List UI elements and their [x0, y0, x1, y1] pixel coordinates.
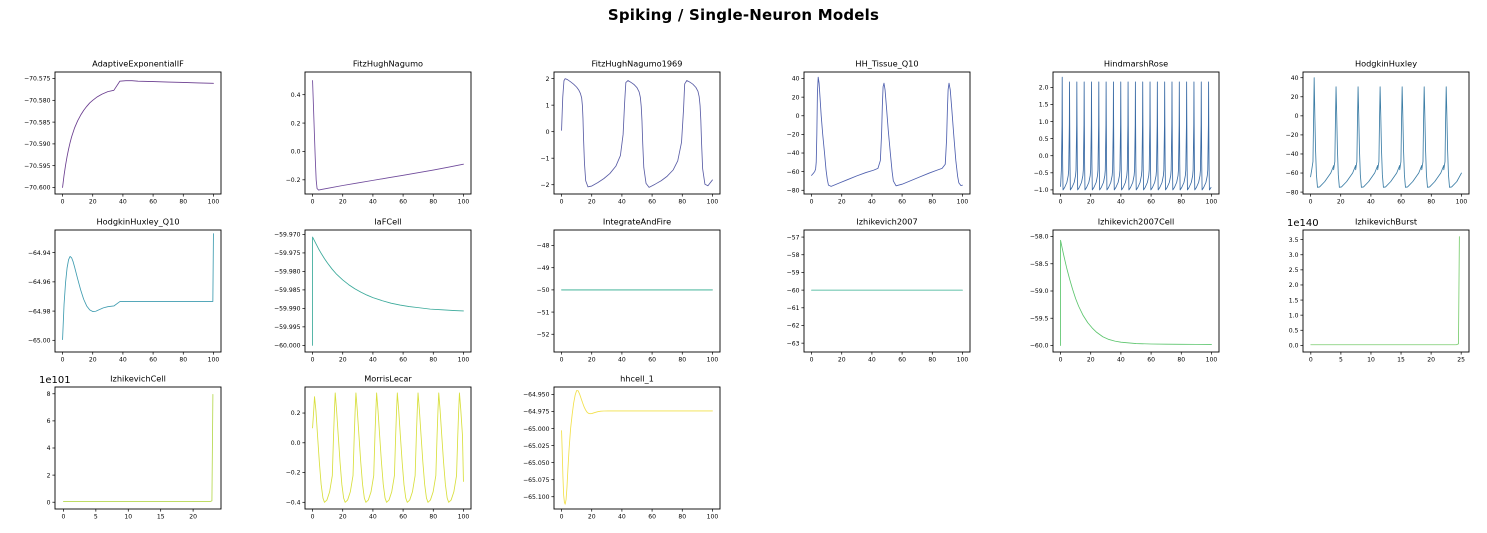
subplot-title: HodgkinHuxley_Q10 [96, 216, 179, 226]
subplot-title: Izhikevich2007Cell [1098, 216, 1175, 226]
y-tick-label: 3.0 [1288, 251, 1298, 258]
data-line [1310, 236, 1459, 344]
y-tick-label: −0.2 [285, 470, 300, 477]
subplot-izhikevichcell: IzhikevichCell1e1010510152086420 [0, 370, 250, 528]
y-tick-label: −70.585 [24, 119, 51, 126]
y-tick-label: −57 [786, 234, 799, 241]
x-tick-label: 20 [588, 514, 596, 521]
y-tick-label: −80 [786, 187, 799, 194]
y-tick-label: 2.5 [1288, 267, 1298, 274]
x-tick-label: 0 [61, 199, 65, 206]
y-tick-label: −64.98 [28, 308, 51, 315]
y-tick-label: −65.075 [523, 477, 550, 484]
x-tick-label: 80 [678, 356, 686, 363]
x-tick-label: 100 [1206, 356, 1218, 363]
x-tick-label: 80 [179, 356, 187, 363]
y-tick-label: −63 [786, 340, 799, 347]
x-tick-label: 20 [338, 356, 346, 363]
x-tick-label: 0 [310, 514, 314, 521]
x-tick-label: 0 [1308, 356, 1312, 363]
x-tick-label: 100 [707, 514, 719, 521]
y-tick-label: −59.970 [274, 231, 301, 238]
x-tick-label: 60 [399, 199, 407, 206]
x-tick-label: 60 [399, 514, 407, 521]
x-tick-label: 60 [648, 356, 656, 363]
subplot-hhcell-1: hhcell_1020406080100−64.950−64.975−65.00… [499, 370, 749, 528]
subplot-izhikevichburst: IzhikevichBurst1e14005101520253.53.02.52… [1248, 213, 1487, 371]
axes-frame [55, 387, 221, 509]
y-tick-label: 4 [47, 445, 51, 452]
y-tick-label: −62 [786, 322, 799, 329]
y-tick-label: −60 [786, 287, 799, 294]
figure-title: Spiking / Single-Neuron Models [0, 6, 1487, 24]
y-tick-label: −50 [537, 287, 550, 294]
data-line [1061, 77, 1211, 190]
y-tick-label: 8 [47, 391, 51, 398]
x-tick-label: 40 [1367, 199, 1375, 206]
data-line [562, 391, 713, 505]
y-tick-label: −59.5 [1030, 315, 1049, 322]
x-tick-label: 5 [94, 514, 98, 521]
x-tick-label: 80 [678, 514, 686, 521]
y-tick-label: 0.0 [290, 440, 300, 447]
axes-frame [1303, 72, 1469, 194]
x-tick-label: 60 [898, 199, 906, 206]
x-tick-label: 40 [868, 199, 876, 206]
x-tick-label: 80 [429, 199, 437, 206]
x-tick-label: 10 [124, 514, 132, 521]
y-tick-label: −40 [786, 150, 799, 157]
x-tick-label: 100 [208, 356, 220, 363]
y-tick-label: −58.0 [1030, 233, 1049, 240]
y-tick-label: 40 [1290, 75, 1298, 82]
y-tick-label: −59.975 [274, 250, 301, 257]
x-tick-label: 10 [1367, 356, 1375, 363]
y-tick-label: −60 [786, 169, 799, 176]
y-tick-label: 0 [1294, 113, 1298, 120]
x-tick-label: 20 [1427, 356, 1435, 363]
subplot-hodgkinhuxley: HodgkinHuxley02040608010040200−20−40−60−… [1248, 55, 1487, 213]
data-line [811, 77, 962, 186]
x-tick-label: 0 [61, 356, 65, 363]
y-tick-label: −58.5 [1030, 260, 1049, 267]
y-tick-label: −20 [786, 132, 799, 139]
y-tick-label: −51 [537, 309, 550, 316]
x-tick-label: 60 [898, 356, 906, 363]
y-tick-label: 20 [1290, 94, 1298, 101]
y-tick-label: −80 [1285, 189, 1298, 196]
axes-frame [804, 72, 970, 194]
y-tick-label: −65.025 [523, 443, 550, 450]
x-tick-label: 60 [1397, 199, 1405, 206]
subplot-title: IzhikevichCell [110, 374, 166, 384]
x-tick-label: 20 [1336, 199, 1344, 206]
y-tick-label: 2.0 [1288, 282, 1298, 289]
x-tick-label: 80 [429, 356, 437, 363]
axis-offset-label: 1e101 [39, 375, 71, 386]
x-tick-label: 80 [429, 514, 437, 521]
subplot-adaptiveexponentialif: AdaptiveExponentialIF020406080100−70.575… [0, 55, 250, 213]
x-tick-label: 40 [369, 356, 377, 363]
y-tick-label: −20 [1285, 132, 1298, 139]
y-tick-label: 1.5 [1039, 102, 1049, 109]
y-tick-label: 2 [47, 472, 51, 479]
data-line [1061, 240, 1212, 345]
x-tick-label: 20 [338, 514, 346, 521]
y-tick-label: −70.580 [24, 98, 51, 105]
data-line [63, 81, 214, 188]
y-tick-label: 1.0 [1039, 119, 1049, 126]
y-tick-label: −70.590 [24, 141, 51, 148]
axes-frame [554, 230, 720, 352]
axes-frame [1053, 230, 1219, 352]
subplot-title: FitzHughNagumo [352, 59, 422, 69]
y-tick-label: −59.985 [274, 287, 301, 294]
y-tick-label: −70.595 [24, 163, 51, 170]
y-tick-label: −64.950 [523, 392, 550, 399]
x-tick-label: 25 [1457, 356, 1465, 363]
y-tick-label: −64.94 [28, 249, 51, 256]
subplot-title: AdaptiveExponentialIF [92, 59, 184, 69]
axes-frame [305, 72, 471, 194]
x-tick-label: 40 [618, 356, 626, 363]
y-tick-label: 1.5 [1288, 297, 1298, 304]
x-tick-label: 60 [648, 514, 656, 521]
x-tick-label: 20 [338, 199, 346, 206]
y-tick-label: −59.980 [274, 268, 301, 275]
subplot-morrislecar: MorrisLecar0204060801000.20.0−0.2−0.4 [250, 370, 500, 528]
x-tick-label: 0 [560, 514, 564, 521]
x-tick-label: 40 [119, 356, 127, 363]
x-tick-label: 0 [1059, 199, 1063, 206]
y-tick-label: −48 [537, 242, 550, 249]
y-tick-label: −1 [541, 155, 550, 162]
y-tick-label: 0.5 [1039, 136, 1049, 143]
x-tick-label: 100 [707, 199, 719, 206]
y-tick-label: 20 [791, 94, 799, 101]
x-tick-label: 20 [1087, 199, 1095, 206]
x-tick-label: 20 [837, 356, 845, 363]
y-tick-label: −61 [786, 304, 799, 311]
x-tick-label: 100 [457, 356, 469, 363]
x-tick-label: 80 [928, 199, 936, 206]
y-tick-label: −65.100 [523, 494, 550, 501]
subplot-iafcell: IaFCell020406080100−59.970−59.975−59.980… [250, 213, 500, 371]
x-tick-label: 80 [1427, 199, 1435, 206]
y-tick-label: −59 [786, 269, 799, 276]
y-tick-label: −60.000 [274, 342, 301, 349]
subplot-title: HH_Tissue_Q10 [855, 59, 918, 69]
x-tick-label: 0 [809, 356, 813, 363]
y-tick-label: −65.000 [523, 426, 550, 433]
y-tick-label: 1 [546, 102, 550, 109]
x-tick-label: 60 [149, 356, 157, 363]
subplot-title: FitzHughNagumo1969 [592, 59, 683, 69]
data-line [63, 394, 212, 501]
y-tick-label: 2 [546, 76, 550, 83]
y-tick-label: 0.2 [290, 120, 300, 127]
x-tick-label: 0 [560, 199, 564, 206]
subplot-title: IaFCell [374, 216, 401, 226]
subplot-title: MorrisLecar [364, 374, 412, 384]
y-tick-label: −2 [541, 182, 550, 189]
x-tick-label: 80 [678, 199, 686, 206]
x-tick-label: 20 [588, 356, 596, 363]
y-tick-label: 0.4 [290, 92, 300, 99]
y-tick-label: 0.0 [290, 149, 300, 156]
y-tick-label: 2.0 [1039, 85, 1049, 92]
x-tick-label: 40 [618, 199, 626, 206]
axes-frame [305, 230, 471, 352]
subplot-fitzhughnagumo1969: FitzHughNagumo1969020406080100210−1−2 [499, 55, 749, 213]
data-line [562, 79, 713, 188]
x-tick-label: 100 [457, 199, 469, 206]
x-tick-label: 0 [560, 356, 564, 363]
subplot-hh-tissue-q10: HH_Tissue_Q1002040608010040200−20−40−60−… [749, 55, 999, 213]
y-tick-label: −64.975 [523, 409, 550, 416]
subplot-title: IzhikevichBurst [1354, 216, 1417, 226]
subplot-hodgkinhuxley-q10: HodgkinHuxley_Q10020406080100−64.94−64.9… [0, 213, 250, 371]
y-tick-label: −0.5 [1034, 170, 1049, 177]
y-tick-label: −0.4 [285, 500, 300, 507]
x-tick-label: 100 [1455, 199, 1467, 206]
axes-frame [55, 230, 221, 352]
subplot-izhikevich2007cell: Izhikevich2007Cell020406080100−58.0−58.5… [998, 213, 1248, 371]
x-tick-label: 100 [707, 356, 719, 363]
y-tick-label: −60 [1285, 170, 1298, 177]
axis-offset-label: 1e140 [1287, 218, 1319, 229]
axes-frame [554, 387, 720, 509]
x-tick-label: 100 [208, 199, 220, 206]
y-tick-label: −0.2 [285, 177, 300, 184]
y-tick-label: −58 [786, 251, 799, 258]
x-tick-label: 60 [648, 199, 656, 206]
x-tick-label: 20 [189, 514, 197, 521]
data-line [312, 81, 463, 191]
x-tick-label: 40 [618, 514, 626, 521]
y-tick-label: 0.0 [1288, 342, 1298, 349]
x-tick-label: 80 [1177, 356, 1185, 363]
subplot-title: Izhikevich2007 [856, 216, 917, 226]
y-tick-label: −70.575 [24, 76, 51, 83]
x-tick-label: 0 [1059, 356, 1063, 363]
x-tick-label: 5 [1338, 356, 1342, 363]
axes-frame [804, 230, 970, 352]
x-tick-label: 100 [1206, 199, 1218, 206]
data-line [312, 237, 463, 345]
data-line [63, 233, 214, 339]
x-tick-label: 20 [89, 199, 97, 206]
x-tick-label: 0 [310, 356, 314, 363]
x-tick-label: 60 [1147, 356, 1155, 363]
y-tick-label: −40 [1285, 151, 1298, 158]
x-tick-label: 40 [1117, 199, 1125, 206]
subplot-title: HodgkinHuxley [1354, 59, 1416, 69]
x-tick-label: 80 [1177, 199, 1185, 206]
y-tick-label: −59.0 [1030, 288, 1049, 295]
subplot-hindmarshrose: HindmarshRose0204060801002.01.51.00.50.0… [998, 55, 1248, 213]
x-tick-label: 0 [310, 199, 314, 206]
y-tick-label: −1.0 [1034, 187, 1049, 194]
subplot-title: IntegrateAndFire [603, 216, 671, 226]
subplot-title: HindmarshRose [1104, 59, 1168, 69]
y-tick-label: −65.050 [523, 460, 550, 467]
y-tick-label: 6 [47, 418, 51, 425]
axes-frame [55, 72, 221, 194]
y-tick-label: 0.2 [290, 410, 300, 417]
x-tick-label: 100 [956, 199, 968, 206]
x-tick-label: 0 [1308, 199, 1312, 206]
x-tick-label: 100 [457, 514, 469, 521]
x-tick-label: 60 [1147, 199, 1155, 206]
x-tick-label: 60 [149, 199, 157, 206]
subplot-integrateandfire: IntegrateAndFire020406080100−48−49−50−51… [499, 213, 749, 371]
data-line [1310, 78, 1461, 188]
figure-canvas: Spiking / Single-Neuron Models AdaptiveE… [0, 0, 1487, 533]
data-line [312, 393, 463, 502]
x-tick-label: 15 [157, 514, 165, 521]
x-tick-label: 100 [956, 356, 968, 363]
x-tick-label: 20 [588, 199, 596, 206]
y-tick-label: 40 [791, 76, 799, 83]
y-tick-label: −52 [537, 331, 550, 338]
y-tick-label: −60.0 [1030, 342, 1049, 349]
y-tick-label: 1.0 [1288, 312, 1298, 319]
x-tick-label: 40 [119, 199, 127, 206]
y-tick-label: 3.5 [1288, 236, 1298, 243]
x-tick-label: 20 [837, 199, 845, 206]
x-tick-label: 40 [868, 356, 876, 363]
subplot-izhikevich2007: Izhikevich2007020406080100−57−58−59−60−6… [749, 213, 999, 371]
y-tick-label: −64.96 [28, 279, 51, 286]
y-tick-label: −65.00 [28, 337, 51, 344]
x-tick-label: 60 [399, 356, 407, 363]
x-tick-label: 80 [179, 199, 187, 206]
x-tick-label: 0 [809, 199, 813, 206]
x-tick-label: 80 [928, 356, 936, 363]
y-tick-label: 0 [795, 113, 799, 120]
x-tick-label: 40 [1117, 356, 1125, 363]
subplot-fitzhughnagumo: FitzHughNagumo0204060801000.40.20.0−0.2 [250, 55, 500, 213]
y-tick-label: −70.600 [24, 185, 51, 192]
y-tick-label: 0 [47, 499, 51, 506]
axes-frame [1303, 230, 1469, 352]
y-tick-label: 0.0 [1039, 153, 1049, 160]
x-tick-label: 40 [369, 514, 377, 521]
x-tick-label: 15 [1397, 356, 1405, 363]
x-tick-label: 40 [369, 199, 377, 206]
subplot-title: hhcell_1 [620, 374, 654, 384]
x-tick-label: 20 [1087, 356, 1095, 363]
y-tick-label: 0.5 [1288, 327, 1298, 334]
y-tick-label: −59.990 [274, 305, 301, 312]
y-tick-label: −49 [537, 264, 550, 271]
y-tick-label: 0 [546, 129, 550, 136]
x-tick-label: 0 [61, 514, 65, 521]
x-tick-label: 20 [89, 356, 97, 363]
y-tick-label: −59.995 [274, 324, 301, 331]
